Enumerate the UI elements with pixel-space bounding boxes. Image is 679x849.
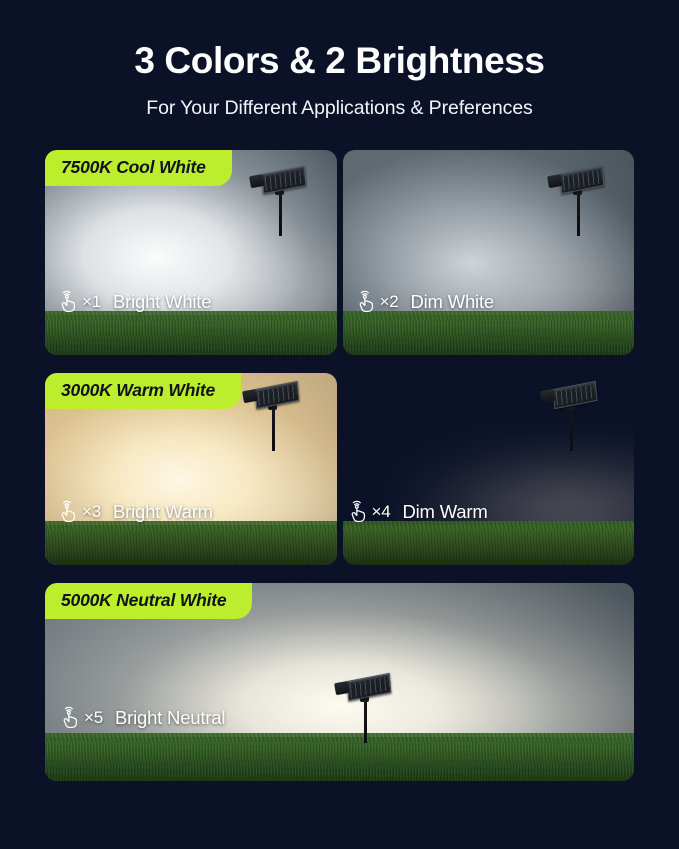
page-title: 3 Colors & 2 Brightness	[0, 42, 679, 81]
header: 3 Colors & 2 Brightness For Your Differe…	[0, 0, 679, 120]
fixture-stake	[577, 192, 580, 236]
press-count: ×2	[380, 292, 399, 312]
press-count: ×3	[82, 502, 101, 522]
fixture-stake	[272, 407, 275, 451]
fixture-stake	[364, 699, 367, 743]
light-head	[334, 681, 351, 695]
grass-strip	[343, 315, 635, 355]
page-subtitle: For Your Different Applications & Prefer…	[0, 97, 679, 120]
panel-dim-white: ×2 Dim White	[343, 150, 635, 355]
tap-hand-icon	[59, 705, 81, 731]
grass-strip	[45, 737, 634, 781]
light-head	[242, 389, 259, 403]
solar-panel	[552, 381, 597, 409]
solar-panel	[255, 381, 300, 409]
tap-hand-icon	[355, 289, 377, 315]
solar-light-fixture	[333, 671, 395, 743]
fixture-stake	[279, 192, 282, 236]
solar-panel	[262, 166, 307, 194]
light-head	[540, 389, 557, 403]
tap-hand-icon	[57, 289, 79, 315]
infographic-page: 3 Colors & 2 Brightness For Your Differe…	[0, 0, 679, 849]
badge-3000k: 3000K Warm White	[45, 373, 241, 409]
solar-light-fixture	[539, 379, 601, 451]
press-count: ×1	[82, 292, 101, 312]
caption-bright-white: ×1 Bright White	[57, 289, 211, 315]
panel-bright-white: 7500K Cool White ×1 Bright White	[45, 150, 337, 355]
panel-bright-warm: 3000K Warm White ×3 Bright Warm	[45, 373, 337, 565]
tap-hand-icon	[347, 499, 369, 525]
caption-dim-warm: ×4 Dim Warm	[347, 499, 488, 525]
mode-label: Dim Warm	[402, 501, 487, 523]
mode-label: Bright Neutral	[115, 707, 225, 729]
row-warm-white: 3000K Warm White ×3 Bright Warm	[45, 373, 634, 565]
panel-rows: 7500K Cool White ×1 Bright White	[45, 150, 634, 799]
tap-hand-icon	[57, 499, 79, 525]
grass-strip	[343, 525, 635, 565]
light-head	[249, 174, 266, 188]
caption-bright-warm: ×3 Bright Warm	[57, 499, 213, 525]
panel-bright-neutral: 5000K Neutral White ×5 Bright Neutral	[45, 583, 634, 781]
solar-light-fixture	[248, 164, 310, 236]
mode-label: Bright White	[113, 291, 211, 313]
solar-light-fixture	[546, 164, 608, 236]
solar-panel	[347, 673, 392, 701]
badge-5000k: 5000K Neutral White	[45, 583, 252, 619]
mode-label: Bright Warm	[113, 501, 213, 523]
mode-label: Dim White	[410, 291, 494, 313]
badge-7500k: 7500K Cool White	[45, 150, 232, 186]
grass-strip	[45, 315, 337, 355]
grass-strip	[45, 525, 337, 565]
light-head	[547, 174, 564, 188]
caption-dim-white: ×2 Dim White	[355, 289, 495, 315]
solar-light-fixture	[241, 379, 303, 451]
panel-dim-warm: ×4 Dim Warm	[343, 373, 635, 565]
press-count: ×5	[84, 708, 103, 728]
press-count: ×4	[372, 502, 391, 522]
caption-bright-neutral: ×5 Bright Neutral	[59, 705, 225, 731]
solar-panel	[559, 166, 604, 194]
row-neutral-white: 5000K Neutral White ×5 Bright Neutral	[45, 583, 634, 781]
row-cool-white: 7500K Cool White ×1 Bright White	[45, 150, 634, 355]
fixture-stake	[570, 407, 573, 451]
